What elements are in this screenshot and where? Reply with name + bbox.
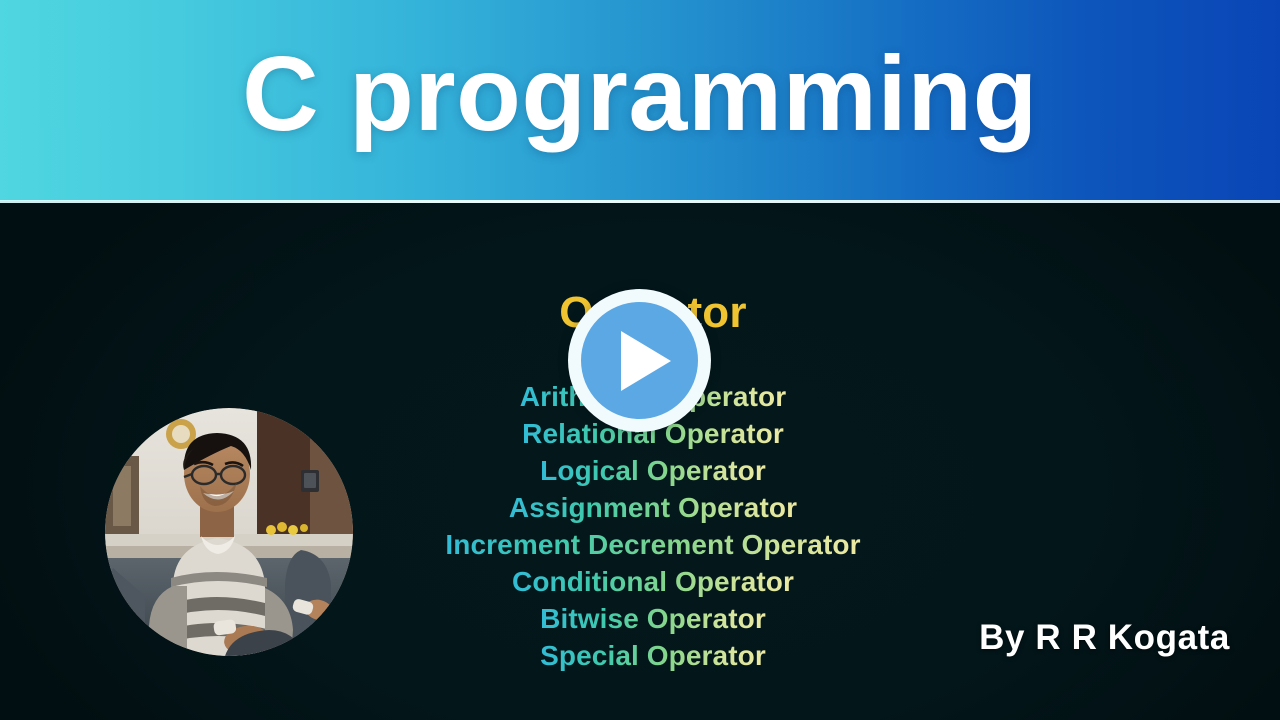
header-banner: C programming — [0, 0, 1280, 201]
operator-label: Special Operator — [540, 640, 766, 671]
play-triangle-icon — [621, 331, 671, 391]
presenter-portrait-image — [105, 408, 353, 656]
operator-label: Conditional Operator — [512, 566, 794, 597]
byline-author: By R R Kogata — [979, 618, 1230, 658]
page-title: C programming — [0, 0, 1280, 201]
operator-label: Bitwise Operator — [540, 603, 766, 634]
operator-label: Increment Decrement Operator — [445, 529, 860, 560]
video-player-frame[interactable]: C programming Operator Arithmetic Operat… — [0, 0, 1280, 720]
operator-label: Logical Operator — [540, 455, 766, 486]
operator-label: Assignment Operator — [509, 492, 797, 523]
play-button-disc[interactable] — [581, 302, 698, 419]
presenter-photo — [105, 408, 353, 656]
play-button[interactable] — [568, 289, 711, 432]
